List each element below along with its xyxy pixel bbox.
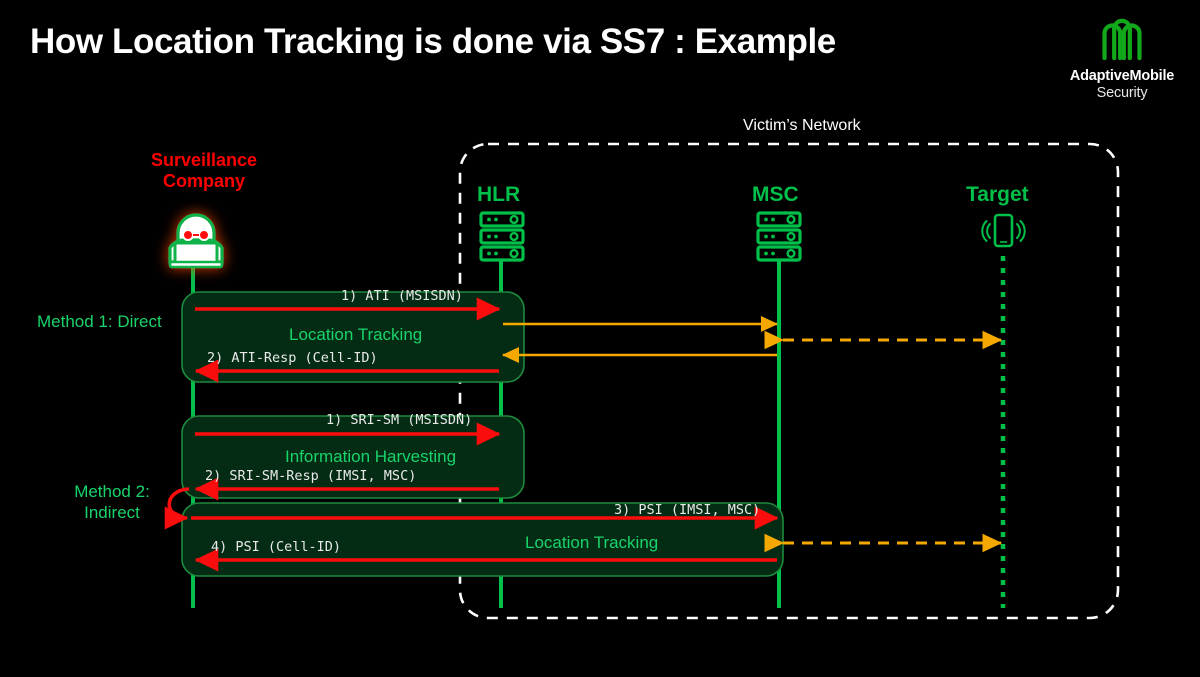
activity-label-location-tracking-2: Location Tracking [525, 533, 658, 553]
actor-label-target: Target [966, 183, 1029, 207]
message-label-ati: 1) ATI (MSISDN) [341, 288, 463, 304]
message-label-psi-request: 3) PSI (IMSI, MSC) [614, 502, 760, 518]
target-mobile-phone-signal-icon [982, 215, 1024, 246]
message-label-sri-sm-resp: 2) SRI-SM-Resp (IMSI, MSC) [205, 468, 416, 484]
msc-server-rack-icon [758, 213, 800, 260]
actor-label-hlr: HLR [477, 183, 520, 207]
actor-label-msc: MSC [752, 183, 799, 207]
message-label-sri-sm: 1) SRI-SM (MSISDN) [326, 412, 472, 428]
activity-label-location-tracking-1: Location Tracking [289, 325, 422, 345]
sequence-diagram-graphics [0, 0, 1200, 677]
victim-network-label: Victim’s Network [743, 117, 861, 135]
method-label-indirect: Method 2: Indirect [57, 481, 167, 523]
message-label-ati-resp: 2) ATI-Resp (Cell-ID) [207, 350, 378, 366]
message-label-psi-response: 4) PSI (Cell-ID) [211, 539, 341, 555]
method-label-direct: Method 1: Direct [37, 312, 162, 332]
hlr-server-rack-icon [481, 213, 523, 260]
activity-label-information-harvesting: Information Harvesting [285, 447, 456, 467]
slide-canvas: How Location Tracking is done via SS7 : … [0, 0, 1200, 677]
surveillance-hacker-laptop-icon [170, 215, 222, 267]
actor-label-surveillance-company: Surveillance Company [141, 150, 267, 192]
